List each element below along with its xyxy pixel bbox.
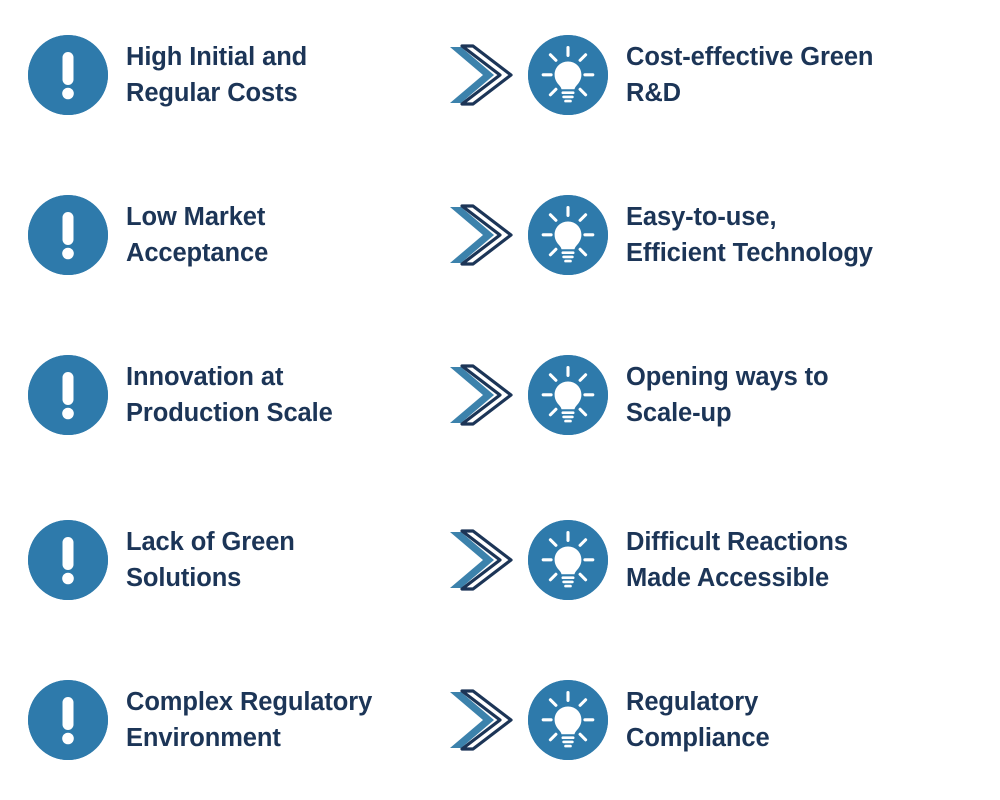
lightbulb-circle-icon (528, 520, 608, 600)
solution-group: Cost-effective Green R&D (528, 15, 988, 135)
solution-group: Easy-to-use, Efficient Technology (528, 175, 988, 295)
double-chevron-arrow-right-icon (442, 515, 532, 605)
solution-label: Difficult Reactions Made Accessible (626, 524, 988, 596)
solution-group: Opening ways to Scale-up (528, 335, 988, 455)
double-chevron-arrow-right-icon (442, 190, 532, 280)
double-chevron-arrow-right-icon (442, 350, 532, 440)
exclamation-mark-circle-icon (28, 35, 108, 115)
solution-label: Easy-to-use, Efficient Technology (626, 199, 988, 271)
problem-label: Low Market Acceptance (126, 199, 448, 271)
double-chevron-arrow-right-icon (442, 675, 532, 765)
exclamation-mark-circle-icon (28, 195, 108, 275)
problem-group: Innovation at Production Scale (28, 335, 448, 455)
exclamation-mark-circle-icon (28, 520, 108, 600)
double-chevron-arrow-right-icon (442, 30, 532, 120)
problem-label: Complex Regulatory Environment (126, 684, 448, 756)
lightbulb-circle-icon (528, 195, 608, 275)
solution-group: Difficult Reactions Made Accessible (528, 500, 988, 620)
lightbulb-circle-icon (528, 355, 608, 435)
challenges-solutions-board: High Initial and Regular Costs (0, 0, 1000, 800)
exclamation-mark-circle-icon (28, 680, 108, 760)
problem-label: Innovation at Production Scale (126, 359, 448, 431)
problem-group: Lack of Green Solutions (28, 500, 448, 620)
lightbulb-circle-icon (528, 35, 608, 115)
problem-label: High Initial and Regular Costs (126, 39, 448, 111)
solution-label: Cost-effective Green R&D (626, 39, 988, 111)
problem-group: Low Market Acceptance (28, 175, 448, 295)
solution-label: Regulatory Compliance (626, 684, 988, 756)
exclamation-mark-circle-icon (28, 355, 108, 435)
lightbulb-circle-icon (528, 680, 608, 760)
problem-group: Complex Regulatory Environment (28, 660, 448, 780)
problem-group: High Initial and Regular Costs (28, 15, 448, 135)
problem-label: Lack of Green Solutions (126, 524, 448, 596)
solution-group: Regulatory Compliance (528, 660, 988, 780)
solution-label: Opening ways to Scale-up (626, 359, 988, 431)
